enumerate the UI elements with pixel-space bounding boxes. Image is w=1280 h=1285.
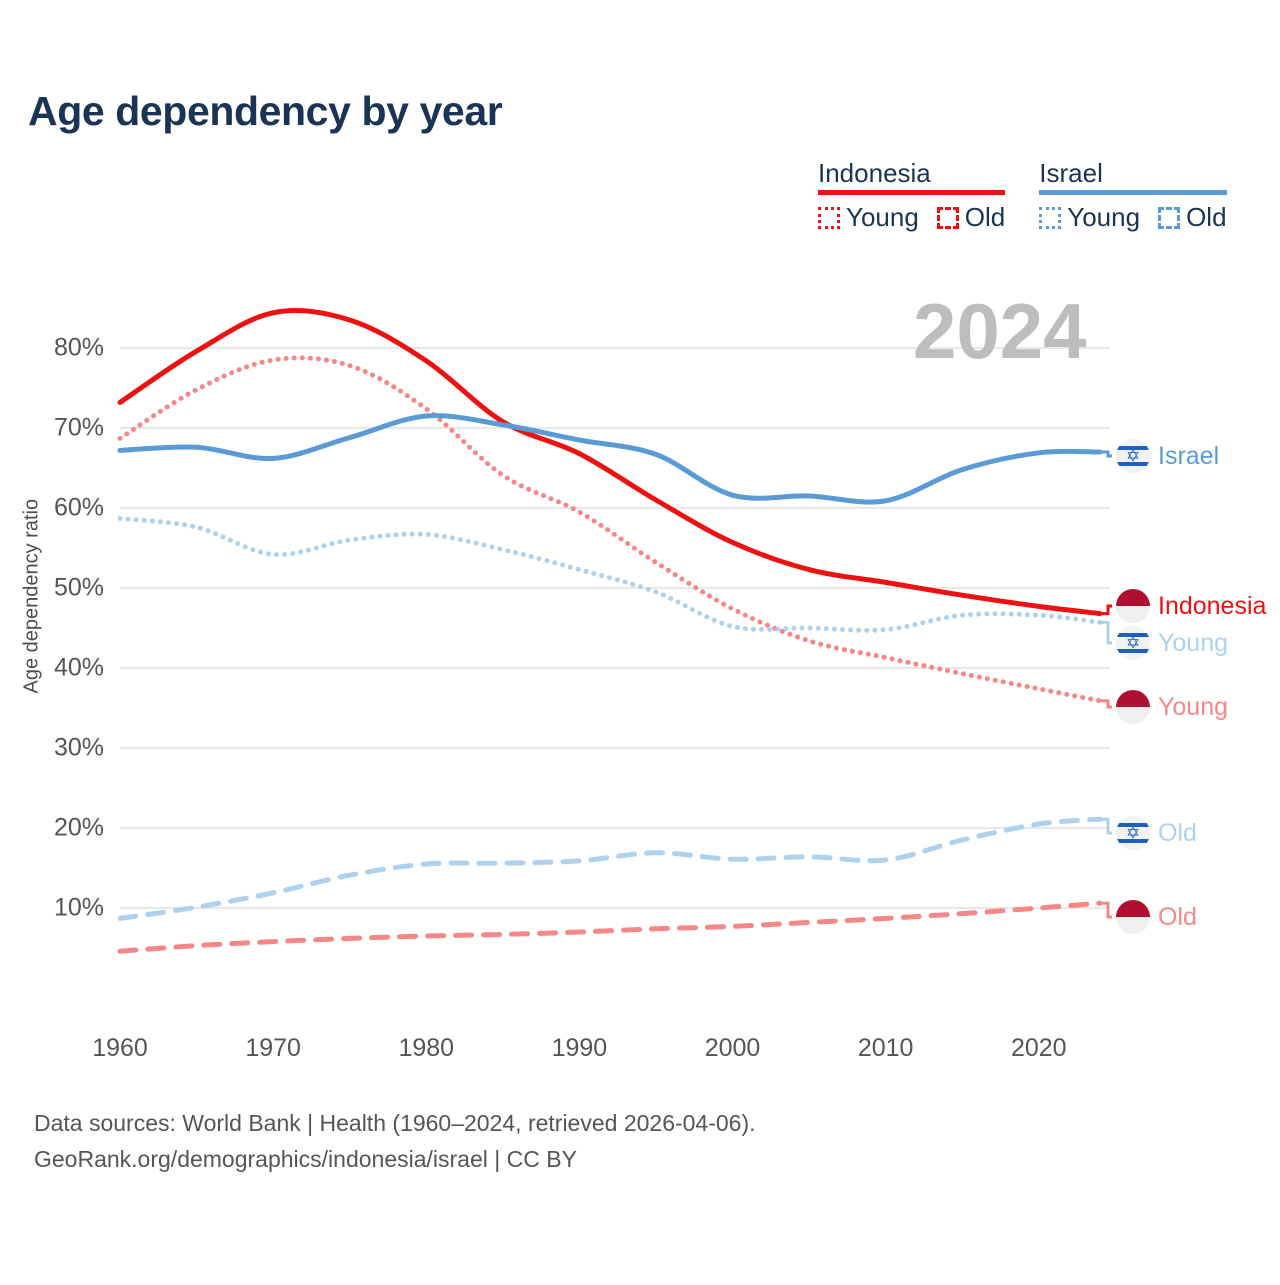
footer-data-sources: Data sources: World Bank | Health (1960–… [34,1106,756,1142]
end-label-young-israel[interactable]: ✡Young [1116,626,1228,660]
watermark-year: 2024 [913,292,1087,370]
footer-attribution[interactable]: GeoRank.org/demographics/indonesia/israe… [34,1142,756,1178]
series-line-israel-old [120,819,1100,918]
x-tick-label: 1960 [92,1034,148,1063]
leader-line [1100,452,1112,456]
series-line-indonesia-young [120,358,1100,701]
y-tick-label: 60% [24,494,104,523]
chart-page: Age dependency by year Indonesia Young O… [0,0,1280,1280]
y-tick-label: 40% [24,654,104,683]
y-tick-label: 10% [24,894,104,923]
end-label-old-indonesia[interactable]: Old [1116,900,1197,934]
leader-line [1100,606,1112,614]
end-label-text: Old [1158,903,1197,932]
end-label-text: Indonesia [1158,592,1266,621]
end-label-israel-israel[interactable]: ✡Israel [1116,439,1219,473]
y-tick-label: 70% [24,414,104,443]
flag-indonesia-icon [1116,690,1150,724]
end-label-young-indonesia[interactable]: Young [1116,690,1228,724]
y-tick-label: 20% [24,814,104,843]
end-label-text: Young [1158,629,1228,658]
leader-line [1100,701,1112,707]
end-label-text: Old [1158,819,1197,848]
y-tick-label: 50% [24,574,104,603]
x-tick-label: 2020 [1011,1034,1067,1063]
x-tick-label: 2010 [858,1034,914,1063]
x-tick-label: 1980 [398,1034,454,1063]
end-label-text: Young [1158,693,1228,722]
flag-israel-icon: ✡ [1116,439,1150,473]
leader-line [1100,622,1112,643]
x-tick-label: 1990 [552,1034,608,1063]
flag-indonesia-icon [1116,589,1150,623]
chart-canvas [0,0,1280,1280]
flag-indonesia-icon [1116,900,1150,934]
series-line-indonesia-old [120,903,1100,951]
leader-line [1100,903,1112,917]
flag-israel-icon: ✡ [1116,626,1150,660]
footer: Data sources: World Bank | Health (1960–… [34,1106,756,1177]
end-label-text: Israel [1158,442,1219,471]
x-tick-label: 1970 [245,1034,301,1063]
flag-israel-icon: ✡ [1116,816,1150,850]
plot-area: 2024 Age dependency ratio 10%20%30%40%50… [0,0,1280,1280]
series-line-israel-young [120,518,1100,630]
leader-line [1100,819,1112,833]
end-label-indonesia-indonesia[interactable]: Indonesia [1116,589,1266,623]
y-tick-label: 80% [24,334,104,363]
end-label-old-israel[interactable]: ✡Old [1116,816,1197,850]
y-tick-label: 30% [24,734,104,763]
x-tick-label: 2000 [705,1034,761,1063]
